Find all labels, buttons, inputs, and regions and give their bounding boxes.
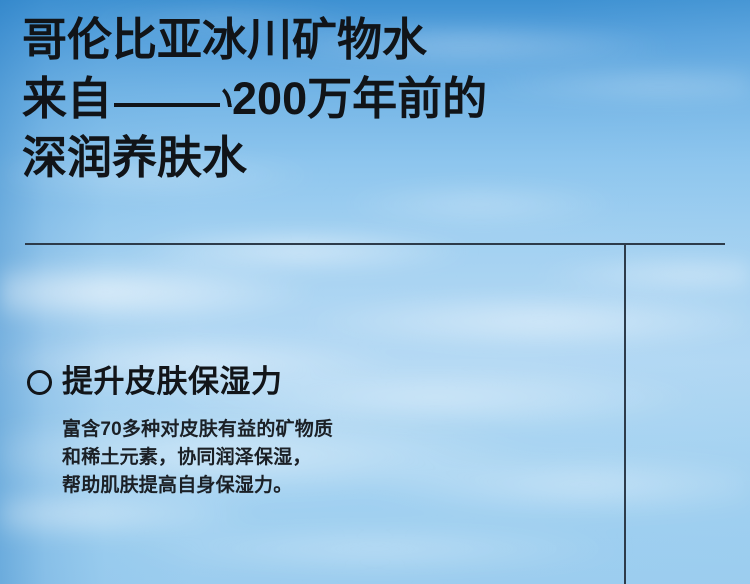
- circle-outline-icon: [27, 370, 52, 395]
- headline-line-3: 深润养肤水: [22, 128, 728, 187]
- feature-heading: 提升皮肤保湿力: [27, 362, 607, 402]
- horizontal-divider: [25, 243, 725, 245]
- vertical-divider: [624, 244, 626, 584]
- feature-description: 富含70多种对皮肤有益的矿物质 和稀土元素，协同润泽保湿， 帮助肌肤提高自身保湿…: [62, 416, 607, 500]
- clipped-glyph-artifact: [112, 69, 232, 114]
- feature-description-line-2: 和稀土元素，协同润泽保湿，: [62, 444, 607, 472]
- headline-line-2-prefix: 来自: [22, 73, 112, 124]
- product-banner: 哥伦比亚冰川矿物水 来自200万年前的 深润养肤水 提升皮肤保湿力 富含70多种…: [0, 0, 750, 584]
- feature-description-line-3: 帮助肌肤提高自身保湿力。: [62, 472, 607, 500]
- feature-block: 提升皮肤保湿力 富含70多种对皮肤有益的矿物质 和稀土元素，协同润泽保湿， 帮助…: [27, 362, 607, 500]
- headline-line-2-suffix: 200万年前的: [232, 73, 487, 124]
- headline-line-1: 哥伦比亚冰川矿物水: [22, 10, 728, 69]
- headline-line-2: 来自200万年前的: [22, 69, 728, 128]
- banner-content: 哥伦比亚冰川矿物水 来自200万年前的 深润养肤水 提升皮肤保湿力 富含70多种…: [0, 0, 750, 584]
- feature-description-line-1: 富含70多种对皮肤有益的矿物质: [62, 416, 607, 444]
- feature-title: 提升皮肤保湿力: [62, 362, 283, 402]
- headline: 哥伦比亚冰川矿物水 来自200万年前的 深润养肤水: [22, 10, 728, 187]
